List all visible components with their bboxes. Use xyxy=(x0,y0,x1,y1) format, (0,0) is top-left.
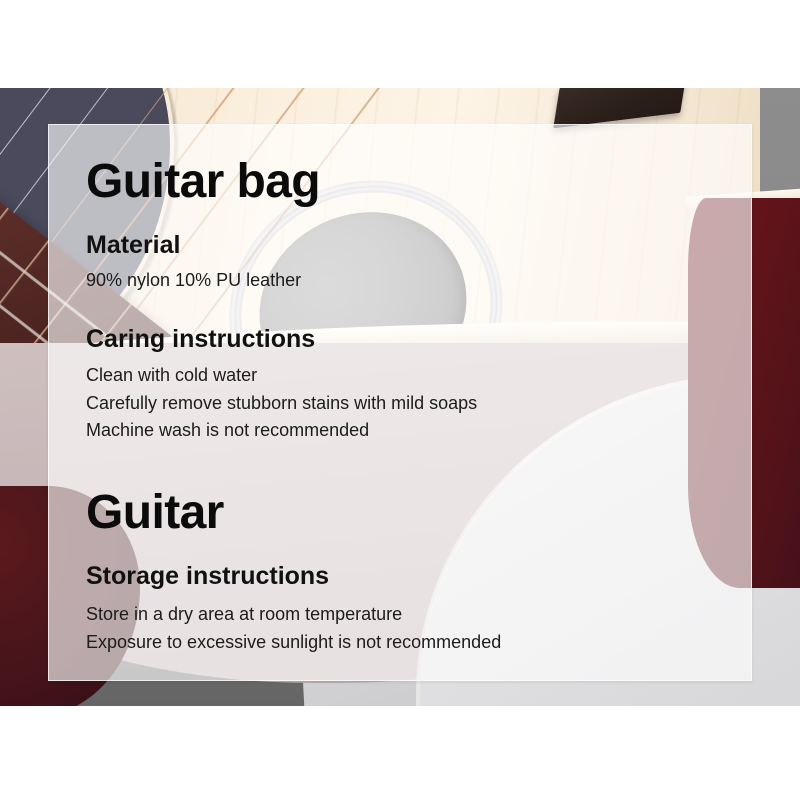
heading-caring-instructions: Caring instructions xyxy=(86,325,733,354)
list-item: Carefully remove stubborn stains with mi… xyxy=(86,390,733,417)
page-title-guitar-bag: Guitar bag xyxy=(86,157,733,207)
material-lines: 90% nylon 10% PU leather xyxy=(86,267,733,294)
info-overlay-panel: Guitar bag Material 90% nylon 10% PU lea… xyxy=(48,124,752,681)
heading-material: Material xyxy=(86,231,733,260)
caring-instruction-lines: Clean with cold water Carefully remove s… xyxy=(86,362,733,444)
info-panel-content: Guitar bag Material 90% nylon 10% PU lea… xyxy=(86,139,733,656)
list-item: Clean with cold water xyxy=(86,362,733,389)
product-info-image: Guitar bag Material 90% nylon 10% PU lea… xyxy=(0,0,800,800)
storage-instruction-lines: Store in a dry area at room temperature … xyxy=(86,601,733,656)
heading-storage-instructions: Storage instructions xyxy=(86,562,733,591)
list-item: Exposure to excessive sunlight is not re… xyxy=(86,629,733,656)
list-item: Machine wash is not recommended xyxy=(86,417,733,444)
list-item: 90% nylon 10% PU leather xyxy=(86,267,733,294)
list-item: Store in a dry area at room temperature xyxy=(86,601,733,628)
page-title-guitar: Guitar xyxy=(86,488,733,538)
